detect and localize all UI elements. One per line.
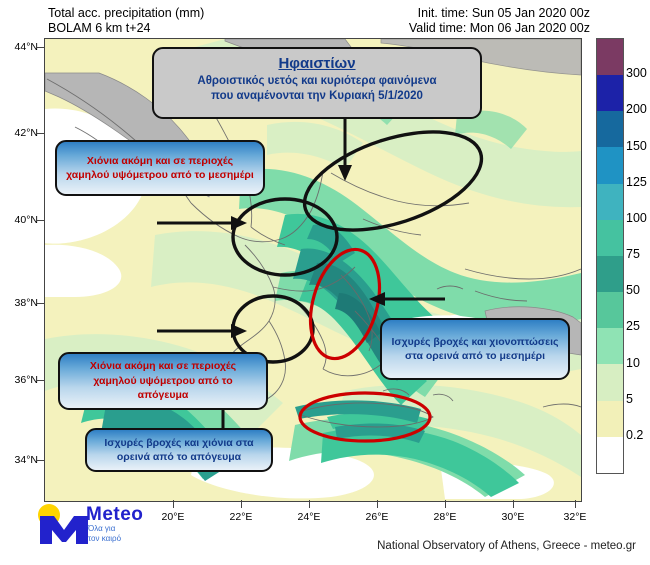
map-title-left: Total acc. precipitation (mm) BOLAM 6 km… (48, 6, 204, 36)
lon-tick (309, 500, 310, 508)
lat-label: 36°N (0, 374, 38, 386)
lon-label: 32°E (553, 511, 597, 523)
colorbar-swatch (597, 328, 623, 364)
colorbar-tick-label: 10 (626, 356, 640, 370)
lon-label: 22°E (219, 511, 263, 523)
colorbar-tick-label: 125 (626, 175, 647, 189)
lat-tick (36, 220, 44, 221)
weather-map-page: Total acc. precipitation (mm) BOLAM 6 km… (0, 0, 650, 565)
colorbar-tick-label: 300 (626, 66, 647, 80)
colorbar-tick-label: 75 (626, 247, 640, 261)
colorbar-tick-label: 150 (626, 139, 647, 153)
lat-label: 44°N (0, 41, 38, 53)
lon-tick (575, 500, 576, 508)
letter-m-icon (40, 516, 88, 544)
lon-label: 28°E (423, 511, 467, 523)
colorbar-tick-label: 25 (626, 319, 640, 333)
lat-label: 34°N (0, 454, 38, 466)
lon-label: 30°E (491, 511, 535, 523)
lat-tick (36, 380, 44, 381)
callout-rain-snow-mountains-midday: Ισχυρές βροχές και χιονοπτώσεις στα ορει… (380, 318, 570, 380)
model-title: BOLAM 6 km t+24 (48, 21, 204, 36)
map-title-right: Init. time: Sun 05 Jan 2020 00z Valid ti… (409, 6, 590, 36)
lon-tick (377, 500, 378, 508)
colorbar-tick-label: 0.2 (626, 428, 643, 442)
colorbar-tick-label: 5 (626, 392, 633, 406)
colorbar-swatch (597, 437, 623, 473)
colorbar-swatch (597, 256, 623, 292)
colorbar-swatch (597, 292, 623, 328)
colorbar-swatch (597, 75, 623, 111)
event-desc-line1: Αθροιστικός υετός και κυριότερα φαινόμεν… (164, 74, 470, 89)
title-callout: Ηφαιστίων Αθροιστικός υετός και κυριότερ… (152, 47, 482, 119)
lon-tick (513, 500, 514, 508)
callout-rain-snow-mountains-afternoon: Ισχυρές βροχές και χιόνια στα ορεινά από… (85, 428, 273, 472)
colorbar-tick-label: 100 (626, 211, 647, 225)
lon-label: 26°E (355, 511, 399, 523)
callout-snow-afternoon: Χιόνια ακόμη και σε περιοχές χαμηλού υψό… (58, 352, 268, 410)
lon-label: 24°E (287, 511, 331, 523)
init-time: Init. time: Sun 05 Jan 2020 00z (409, 6, 590, 21)
event-name: Ηφαιστίων (164, 54, 470, 74)
colorbar-swatch (597, 220, 623, 256)
lat-tick (36, 133, 44, 134)
colorbar-swatch (597, 111, 623, 147)
lat-label: 42°N (0, 127, 38, 139)
lon-tick (445, 500, 446, 508)
colorbar-swatch (597, 184, 623, 220)
lat-tick (36, 47, 44, 48)
colorbar-tick-label: 200 (626, 102, 647, 116)
logo-wordmark: Meteo (86, 504, 143, 526)
colorbar-tick-label: 50 (626, 283, 640, 297)
lat-label: 40°N (0, 214, 38, 226)
field-title: Total acc. precipitation (mm) (48, 6, 204, 21)
precipitation-colorbar (596, 38, 624, 474)
colorbar-swatch (597, 147, 623, 183)
colorbar-swatch (597, 401, 623, 437)
colorbar-swatch (597, 39, 623, 75)
logo-tagline: Όλα για τον καιρό (88, 524, 121, 543)
lat-tick (36, 303, 44, 304)
event-desc-line2: που αναμένονται την Κυριακή 5/1/2020 (164, 89, 470, 104)
meteo-logo[interactable]: Meteo Όλα για τον καιρό (28, 502, 198, 548)
lat-label: 38°N (0, 297, 38, 309)
lon-tick (241, 500, 242, 508)
colorbar-swatch (597, 364, 623, 400)
callout-snow-midday: Χιόνια ακόμη και σε περιοχές χαμηλού υψό… (55, 140, 265, 196)
valid-time: Valid time: Mon 06 Jan 2020 00z (409, 21, 590, 36)
lat-tick (36, 460, 44, 461)
source-attribution: National Observatory of Athens, Greece -… (377, 540, 636, 552)
